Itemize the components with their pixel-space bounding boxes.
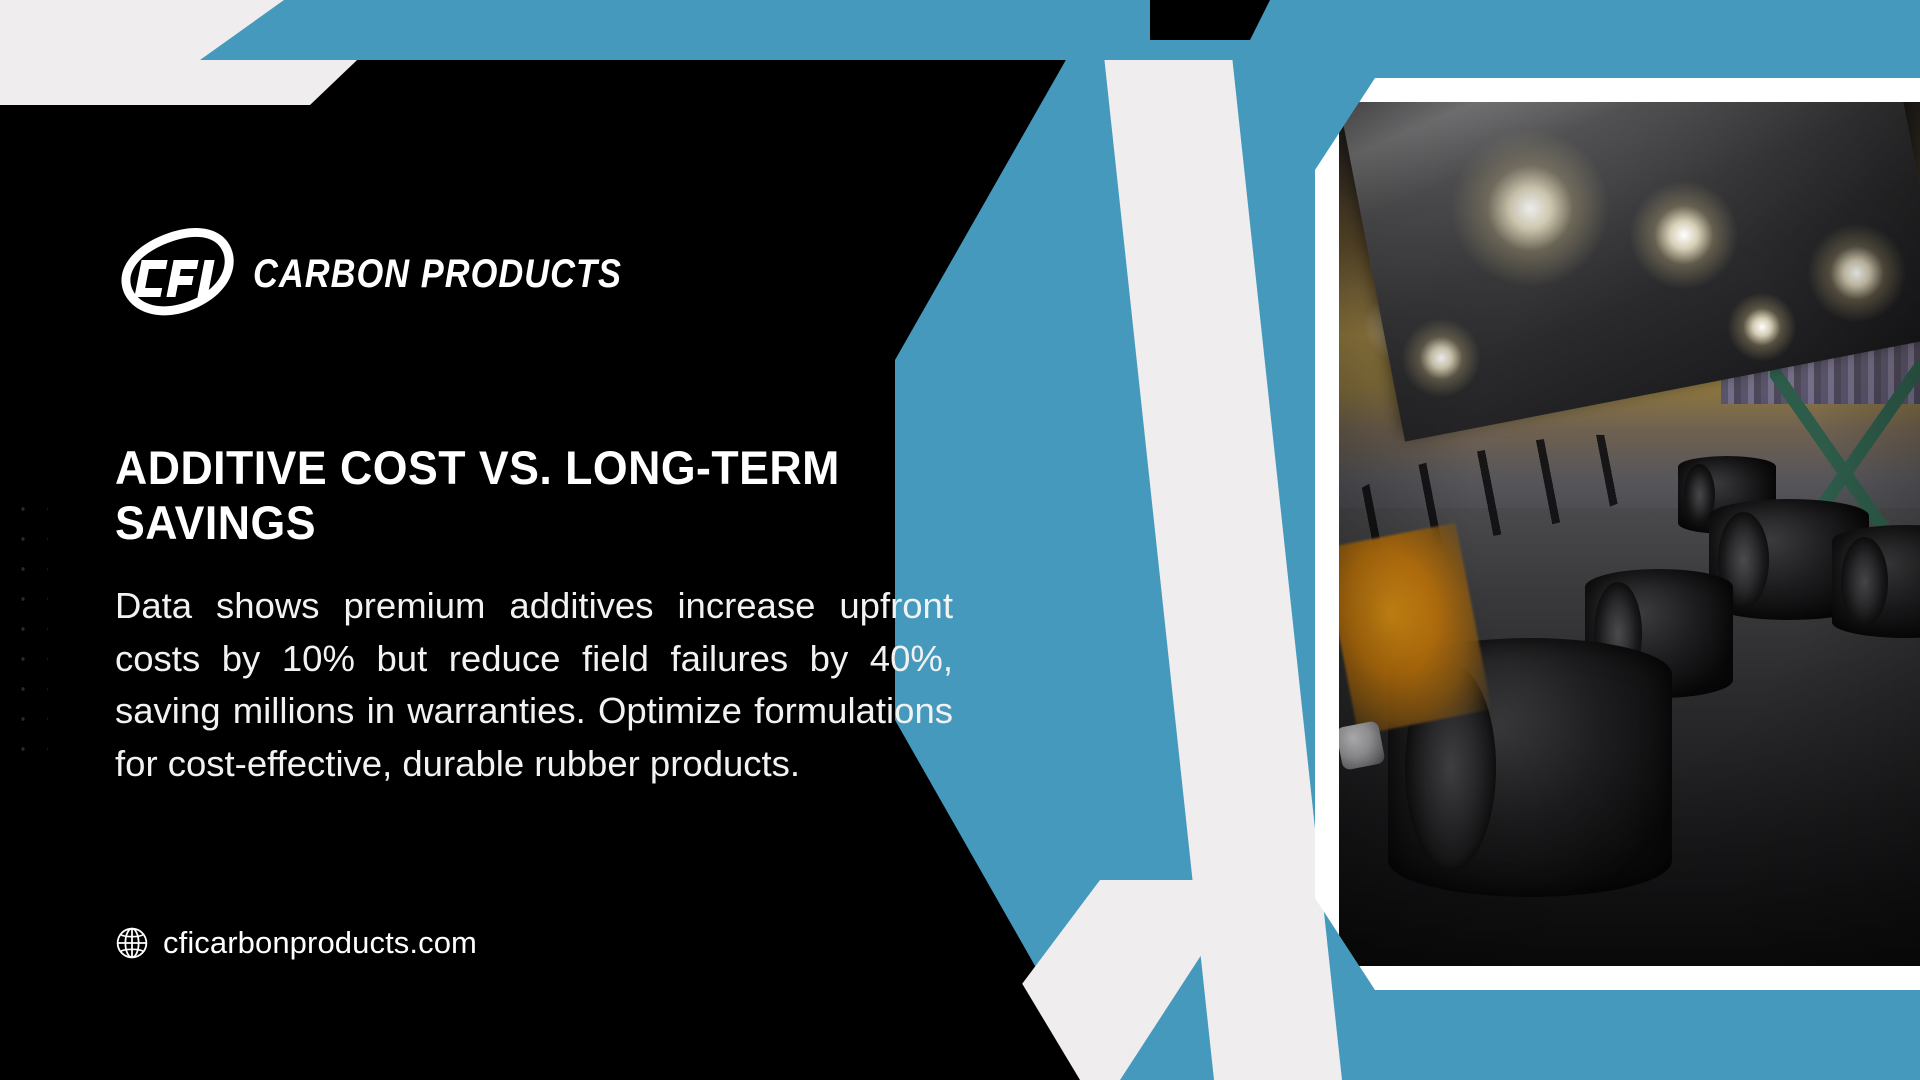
logo-wordmark: CARBON PRODUCTS — [253, 252, 622, 297]
photo-vignette — [1339, 102, 1920, 966]
promo-banner: CARBON PRODUCTS Additive Cost vs. Long-T… — [0, 0, 1920, 1080]
dot-grid-texture — [6, 490, 48, 765]
website-url-label: cficarbonproducts.com — [163, 925, 477, 961]
photo-frame — [1315, 78, 1920, 990]
page-title: Additive Cost vs. Long-Term Savings — [115, 440, 913, 551]
body-paragraph: Data shows premium additives increase up… — [115, 580, 953, 790]
cfi-swoosh-logo-icon — [115, 222, 243, 326]
content-column: CARBON PRODUCTS Additive Cost vs. Long-T… — [115, 0, 955, 1080]
website-link[interactable]: cficarbonproducts.com — [115, 925, 477, 961]
globe-icon — [115, 926, 149, 960]
top-right-black-notch — [1150, 0, 1270, 40]
brand-logo[interactable]: CARBON PRODUCTS — [115, 222, 682, 326]
factory-photo — [1339, 102, 1920, 966]
